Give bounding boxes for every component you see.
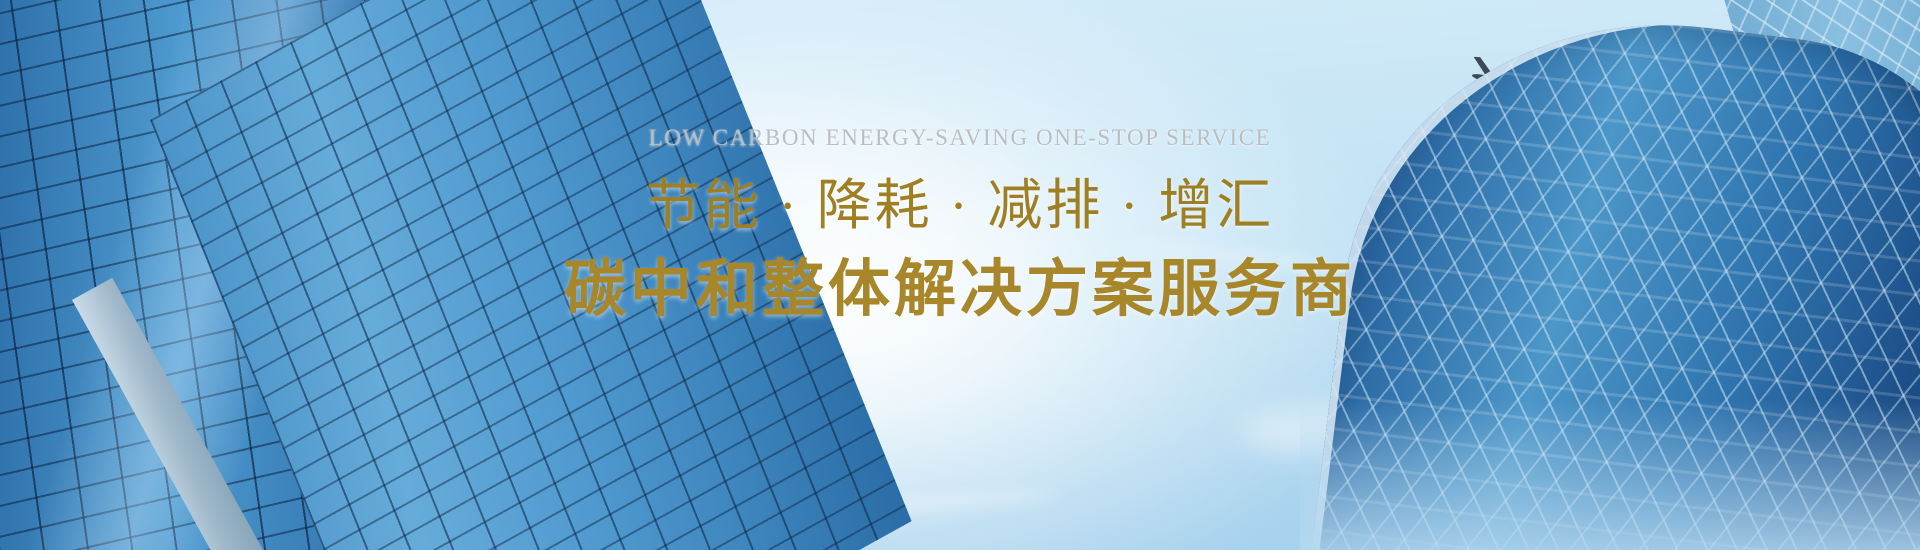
hero-banner: LOW CARBON ENERGY-SAVING ONE-STOP SERVIC… [0,0,1920,550]
cloud-wisp [1120,239,1340,274]
building-right-curved-tower [1295,0,1920,550]
